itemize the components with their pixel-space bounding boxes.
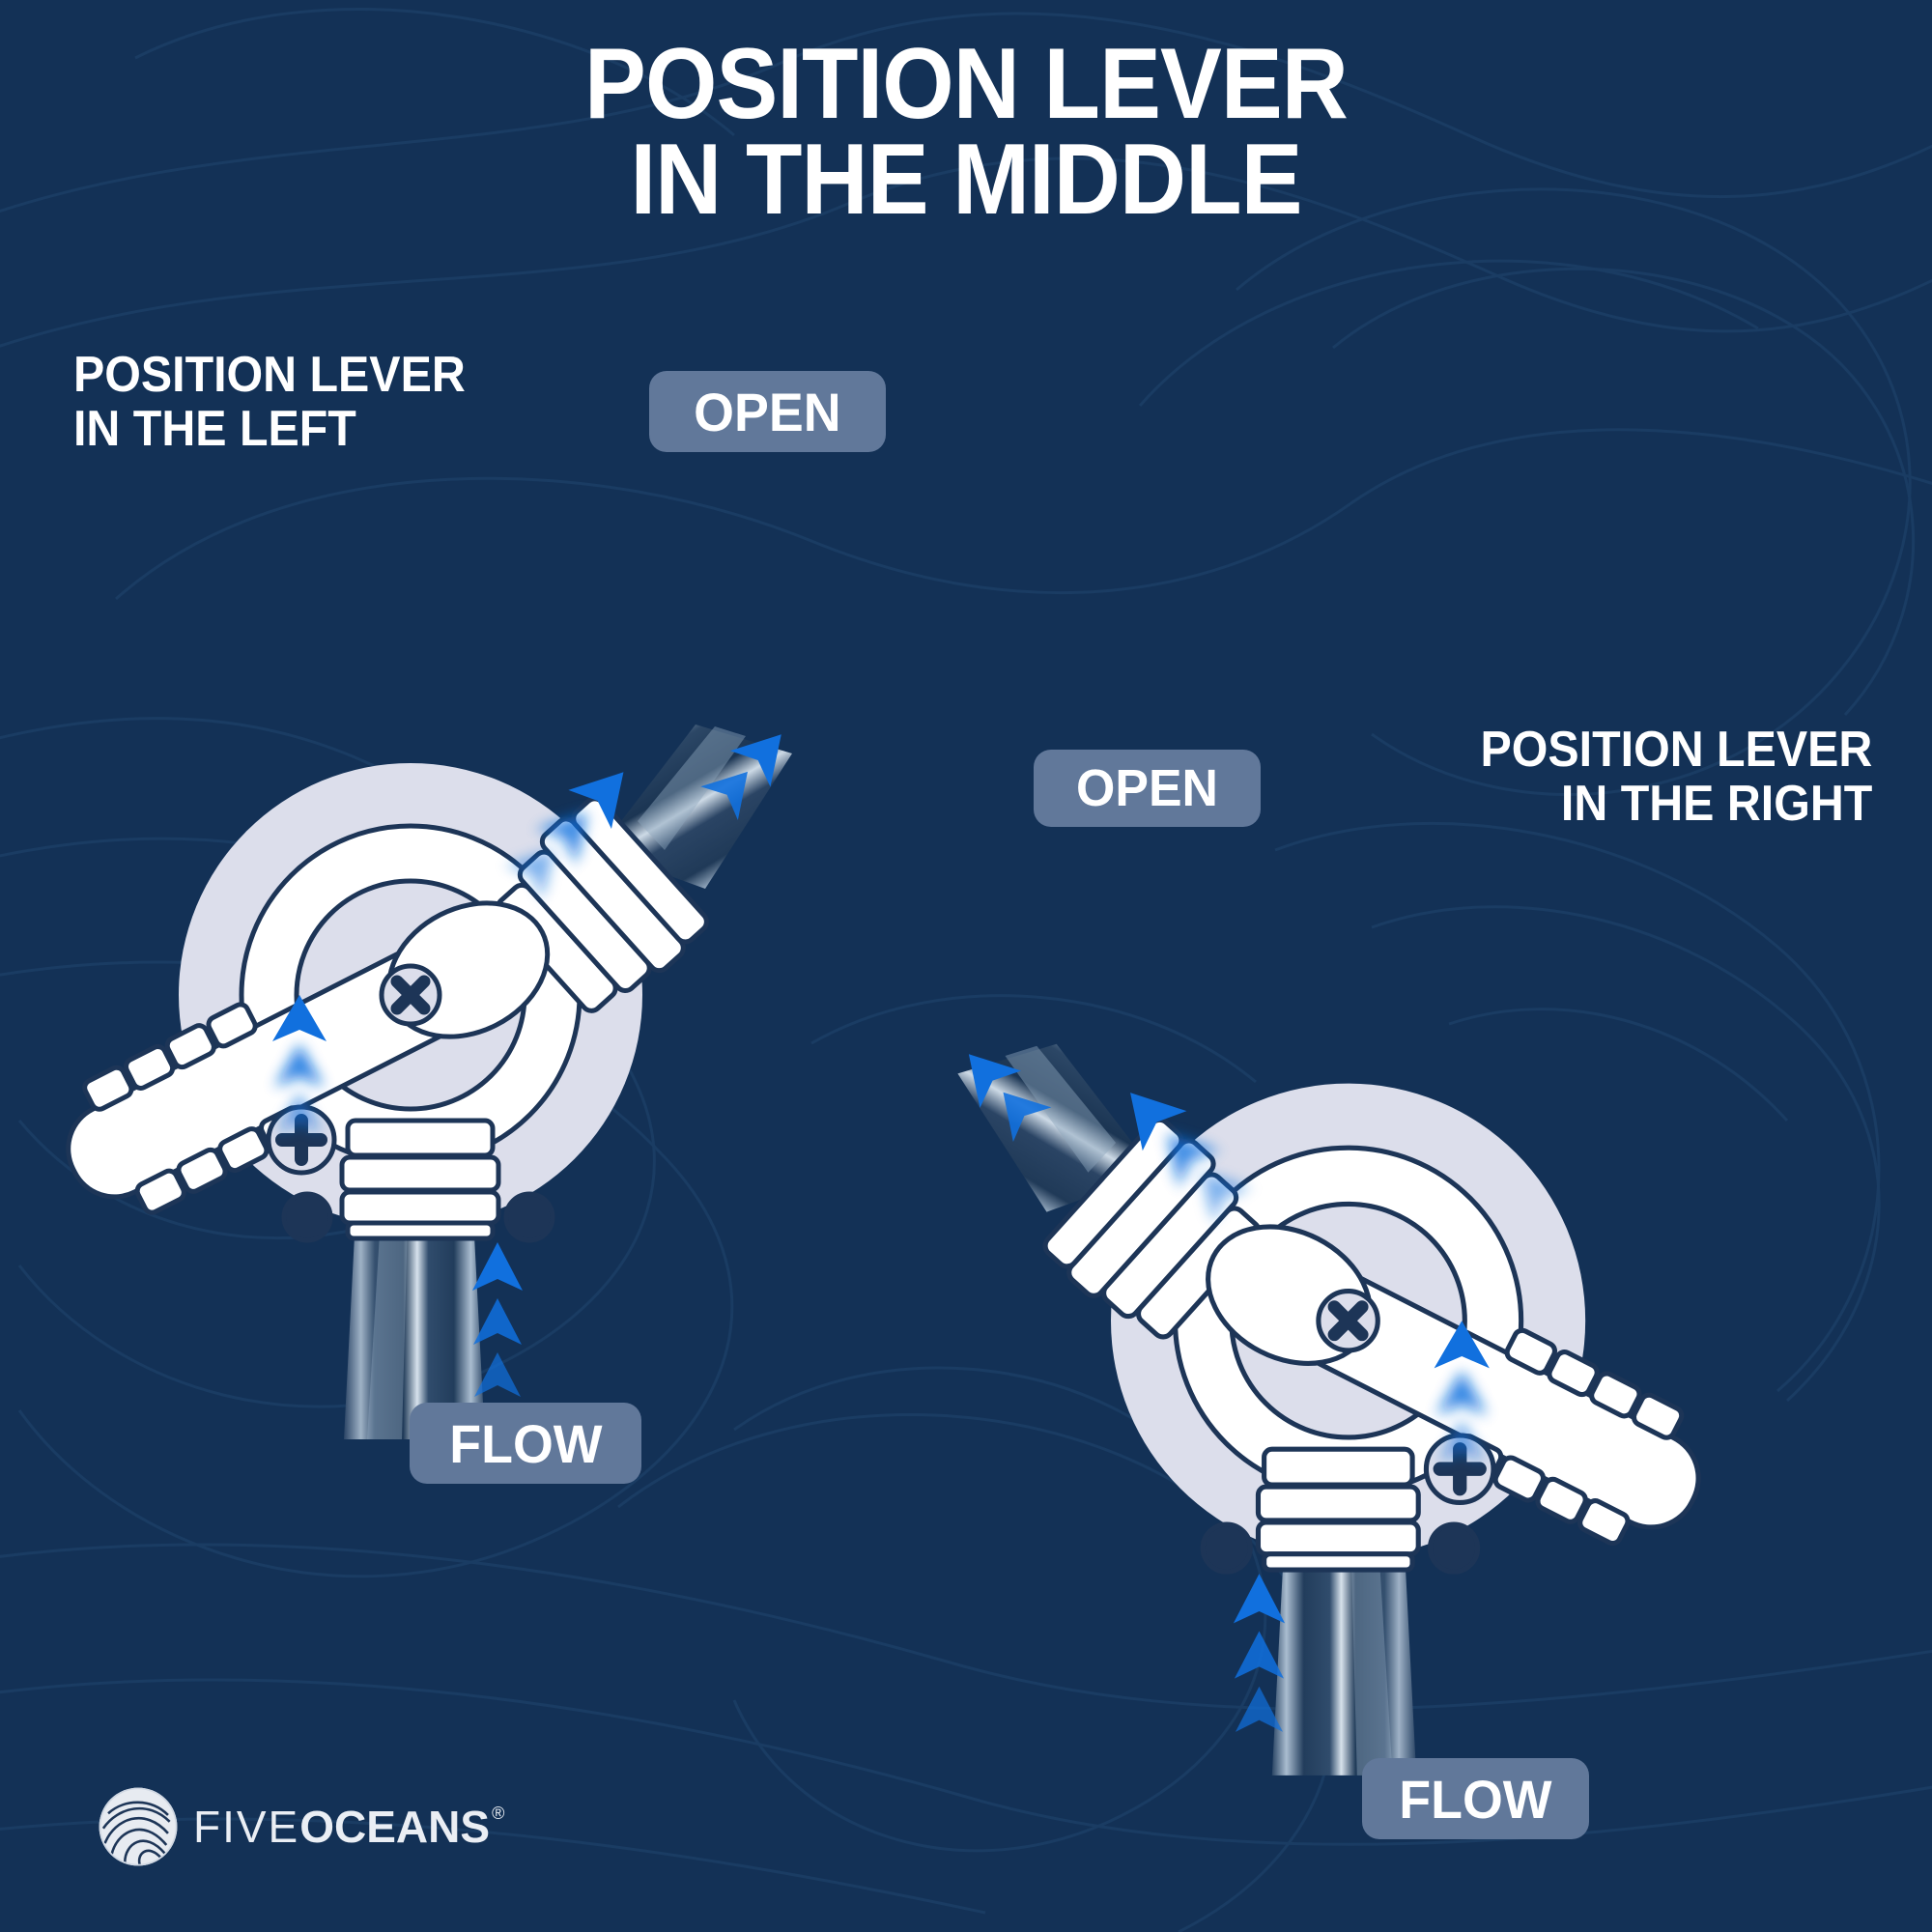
brand-name-bold: OCEANS: [299, 1801, 490, 1853]
page-title: POSITION LEVER IN THE MIDDLE: [77, 37, 1855, 228]
port-hole-right: [506, 1194, 553, 1240]
status-badge-open-left: OPEN: [649, 371, 886, 452]
registered-mark: ®: [492, 1804, 504, 1822]
status-badge-open-right: OPEN: [1034, 750, 1261, 827]
caption-left-position: POSITION LEVER IN THE LEFT: [73, 348, 466, 456]
caption-right-position: POSITION LEVER IN THE RIGHT: [1480, 723, 1872, 831]
status-badge-flow-right: FLOW: [1362, 1758, 1589, 1839]
brand-logo: FIVEOCEANS®: [97, 1785, 504, 1868]
hose-collar-bottom: [1258, 1449, 1418, 1570]
brand-name-light: FIVE: [193, 1801, 299, 1853]
infographic-canvas: POSITION LEVER IN THE MIDDLE: [0, 0, 1932, 1932]
valve-diagram-left: [19, 367, 850, 1439]
port-hole-left: [284, 1194, 330, 1240]
port-hole-right: [1203, 1524, 1250, 1572]
hose-bottom: [1272, 1548, 1416, 1776]
valve-diagram-right: [898, 676, 1748, 1777]
status-badge-flow-left: FLOW: [410, 1403, 641, 1484]
badge-label: OPEN: [694, 381, 840, 443]
phillips-screw-icon: [1319, 1292, 1378, 1350]
badge-label: FLOW: [449, 1412, 602, 1475]
badge-label: OPEN: [1076, 758, 1218, 818]
port-hole-left: [1431, 1524, 1478, 1572]
badge-label: FLOW: [1399, 1768, 1551, 1831]
globe-wave-icon: [97, 1785, 180, 1868]
hose-collar-bottom: [342, 1121, 498, 1238]
phillips-screw-icon: [382, 966, 440, 1024]
brand-wordmark: FIVEOCEANS®: [193, 1801, 504, 1853]
